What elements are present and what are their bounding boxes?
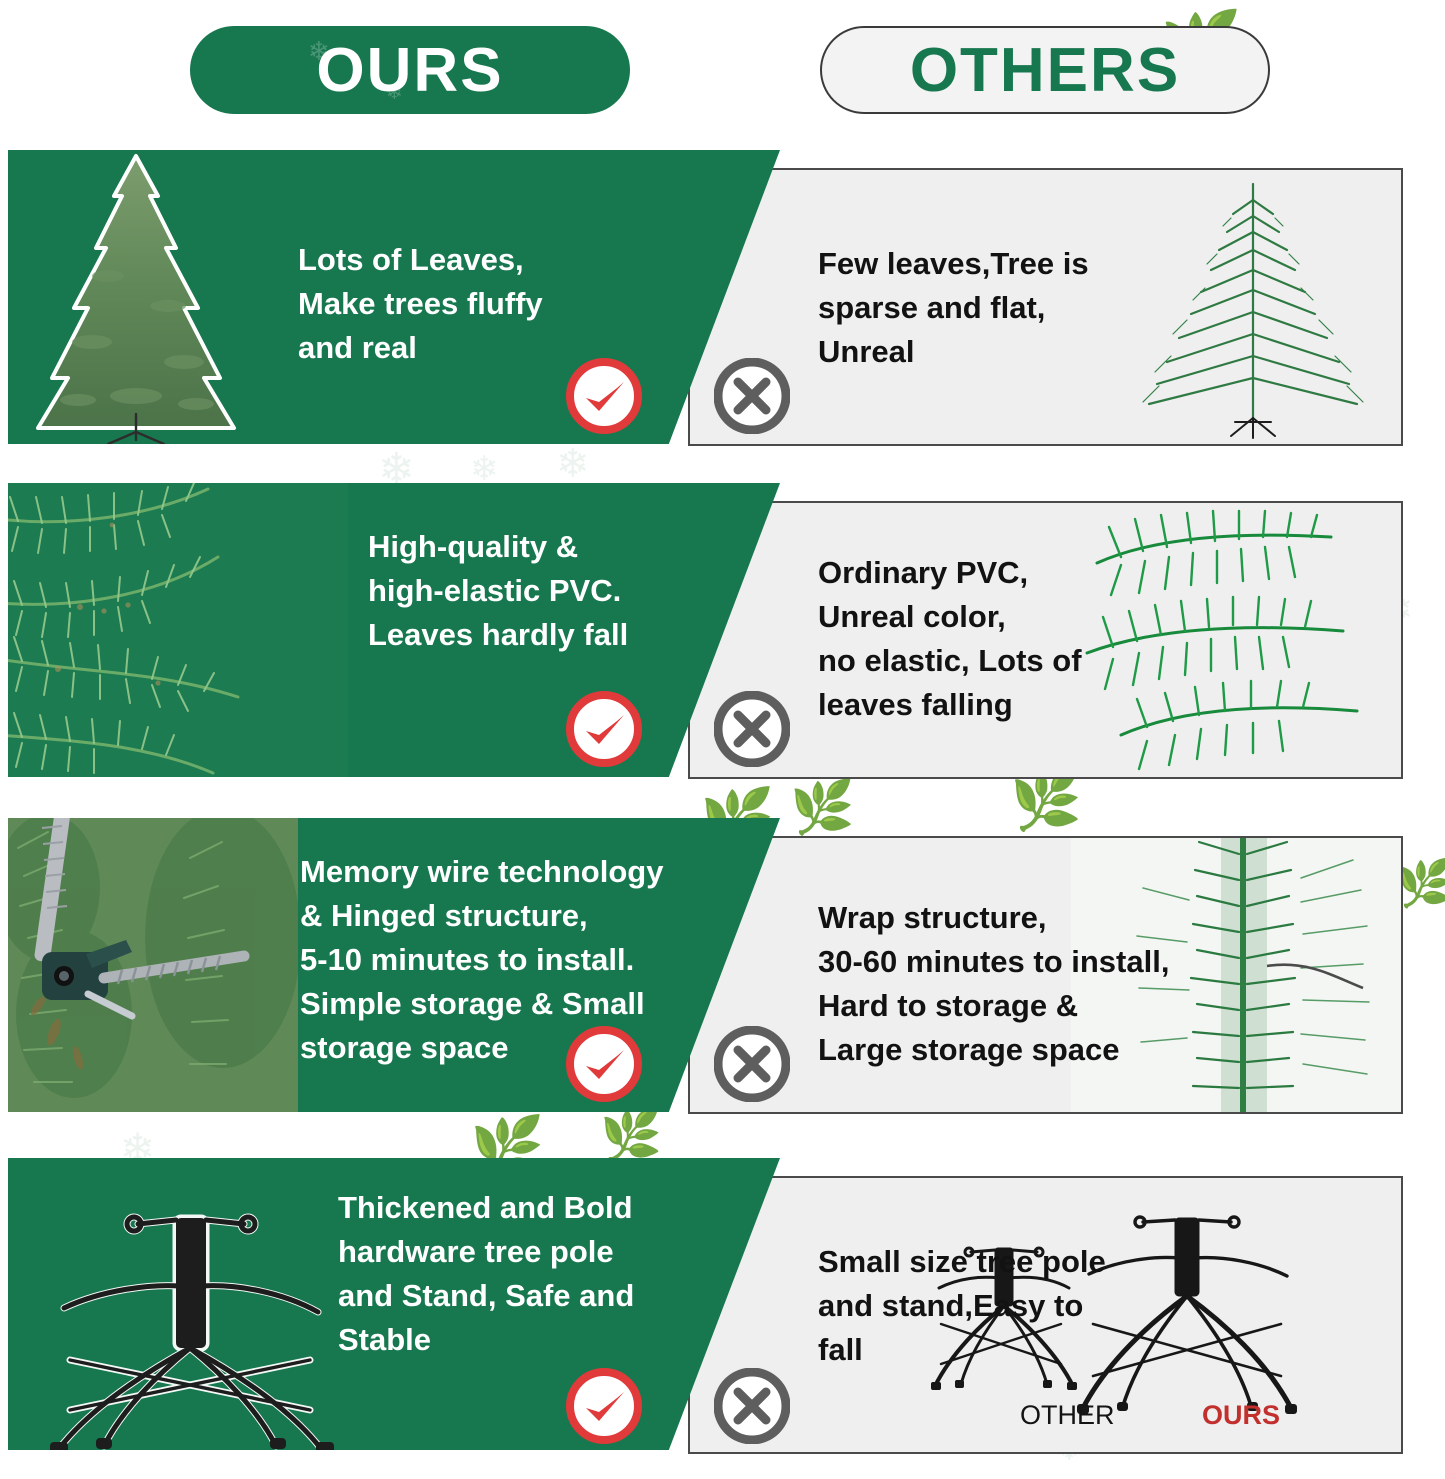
cross-circle-icon xyxy=(714,1368,790,1444)
ours-image-heavy-stand xyxy=(18,1158,368,1450)
ours-text-assembly: Memory wire technology & Hinged structur… xyxy=(300,850,720,1070)
others-text-assembly: Wrap structure, 30-60 minutes to install… xyxy=(818,896,1278,1072)
others-text-leaves: Few leaves,Tree is sparse and flat, Unre… xyxy=(818,242,1238,374)
check-circle-icon xyxy=(566,691,642,767)
others-panel-stand: Small size tree pole and stand,Easy to f… xyxy=(688,1176,1403,1454)
comparison-row-assembly: Wrap structure, 30-60 minutes to install… xyxy=(0,818,1445,1118)
ours-image-realistic-branch xyxy=(8,483,348,777)
realistic-pine-branch-illustration xyxy=(8,483,348,777)
header-others-label: OTHERS xyxy=(910,35,1180,106)
heavy-duty-stand-illustration xyxy=(18,1158,368,1450)
stand-label-ours: OURS xyxy=(1202,1400,1280,1431)
ours-text-stand: Thickened and Bold hardware tree pole an… xyxy=(338,1186,758,1362)
header-ours-label: OURS xyxy=(316,35,503,106)
lush-tree-illustration xyxy=(8,150,270,444)
others-text-stand: Small size tree pole and stand,Easy to f… xyxy=(818,1240,1238,1372)
check-circle-icon xyxy=(566,1026,642,1102)
others-panel-leaves: Few leaves,Tree is sparse and flat, Unre… xyxy=(688,168,1403,446)
header-pill-others: OTHERS xyxy=(820,26,1270,114)
comparison-row-stand: Small size tree pole and stand,Easy to f… xyxy=(0,1158,1445,1468)
others-panel-assembly: Wrap structure, 30-60 minutes to install… xyxy=(688,836,1403,1114)
others-panel-pvc: Ordinary PVC, Unreal color, no elastic, … xyxy=(688,501,1403,779)
header-pill-ours: ❄ ❄ OURS xyxy=(190,26,630,114)
hinged-spring-illustration xyxy=(8,818,298,1112)
ours-image-hinge-spring xyxy=(8,818,298,1112)
ours-text-pvc: High-quality & high-elastic PVC. Leaves … xyxy=(368,525,780,657)
others-text-pvc: Ordinary PVC, Unreal color, no elastic, … xyxy=(818,551,1258,727)
comparison-header: ❄ ❄ OURS OTHERS xyxy=(0,0,1445,140)
stand-label-other: OTHER xyxy=(1020,1400,1115,1431)
cross-circle-icon xyxy=(714,358,790,434)
check-circle-icon xyxy=(566,358,642,434)
snowflake-watermark: ❄ xyxy=(470,452,499,486)
ours-panel-pvc: High-quality & high-elastic PVC. Leaves … xyxy=(8,483,780,777)
cross-circle-icon xyxy=(714,1026,790,1102)
ours-panel-assembly: Memory wire technology & Hinged structur… xyxy=(8,818,780,1112)
comparison-row-pvc-quality: Ordinary PVC, Unreal color, no elastic, … xyxy=(0,483,1445,783)
comparison-row-leaves: Few leaves,Tree is sparse and flat, Unre… xyxy=(0,150,1445,450)
check-circle-icon xyxy=(566,1368,642,1444)
ours-image-lush-tree xyxy=(8,150,270,444)
cross-circle-icon xyxy=(714,691,790,767)
ours-panel-leaves: Lots of Leaves, Make trees fluffy and re… xyxy=(8,150,780,444)
ours-panel-stand: Thickened and Bold hardware tree pole an… xyxy=(8,1158,780,1450)
snowflake-watermark: ❄ xyxy=(556,444,590,484)
ours-text-leaves: Lots of Leaves, Make trees fluffy and re… xyxy=(298,238,698,370)
